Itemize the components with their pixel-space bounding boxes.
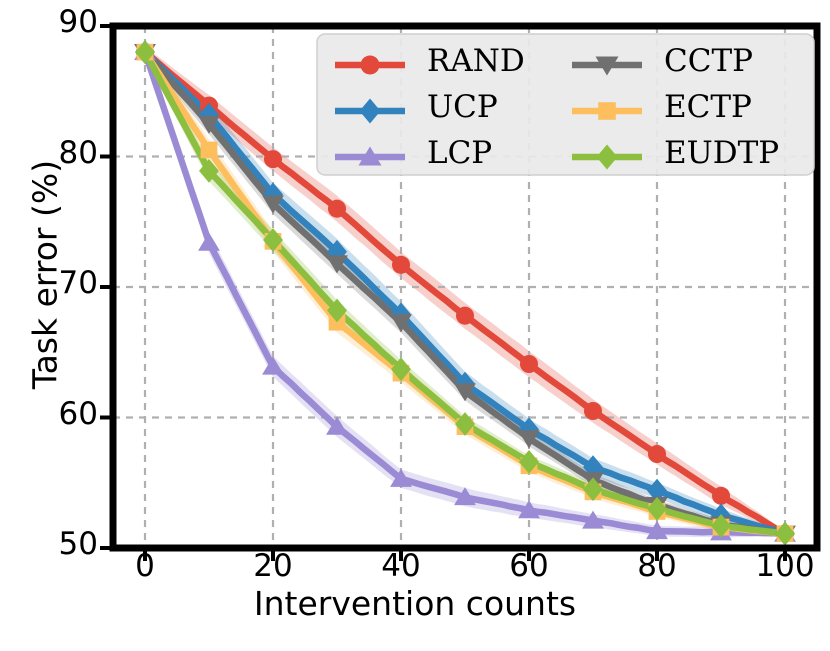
y-tick-90: 90 [8,4,98,40]
chart-figure: Intervention counts Task error (%) 02040… [0,0,830,651]
y-tick-80: 80 [8,135,98,171]
x-tick-0: 0 [105,548,185,584]
legend-label-rand: RAND [427,43,525,79]
data-point-ectp-10 [201,142,218,159]
legend-label-eudtp: EUDTP [664,135,779,171]
x-tick-100: 100 [745,548,825,584]
data-point-rand-40 [392,256,410,274]
data-point-rand-90 [712,487,730,505]
data-point-lcp-10 [198,233,220,251]
legend-label-ectp: ECTP [664,89,752,125]
data-point-rand-70 [584,402,602,420]
x-tick-80: 80 [617,548,697,584]
x-tick-40: 40 [361,548,441,584]
x-tick-20: 20 [233,548,313,584]
data-point-rand-20 [264,150,282,168]
y-tick-60: 60 [8,396,98,432]
legend-label-lcp: LCP [427,135,492,171]
y-tick-50: 50 [8,526,98,562]
data-point-rand-80 [648,445,666,463]
legend-label-ucp: UCP [427,89,498,125]
data-point-rand-50 [456,307,474,325]
y-tick-70: 70 [8,265,98,301]
x-tick-60: 60 [489,548,569,584]
legend-marker-circle-icon [361,56,380,75]
legend-marker-square-icon [598,102,616,120]
legend-label-cctp: CCTP [664,43,753,79]
x-axis-label: Intervention counts [0,584,830,623]
data-point-rand-60 [520,355,538,373]
data-point-rand-30 [328,200,346,218]
